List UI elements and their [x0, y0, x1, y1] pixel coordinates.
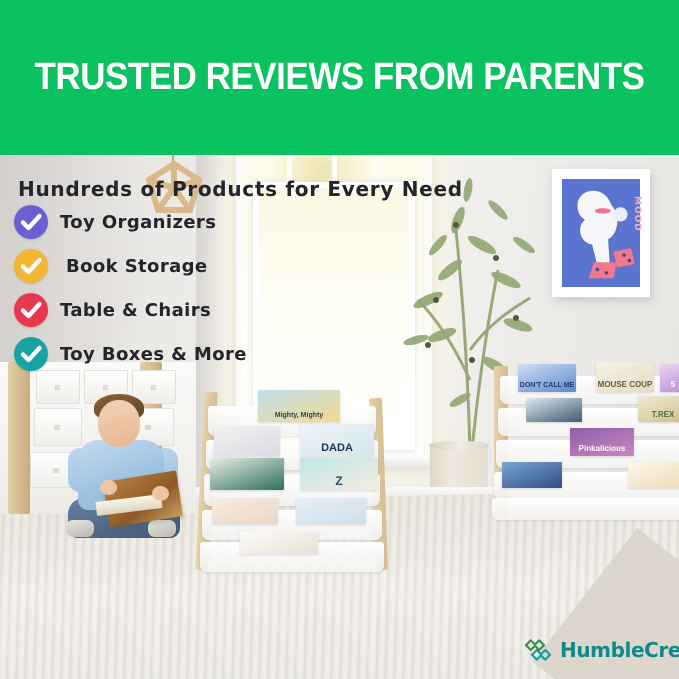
- brand-logo: HumbleCrew: [521, 633, 679, 667]
- brand-name: HumbleCrew: [560, 638, 679, 662]
- banner-title: TRUSTED REVIEWS FROM PARENTS: [35, 56, 645, 99]
- child-face: [98, 400, 140, 447]
- right-bookshelf: DON'T CALL ME MOUSE COUP 5 T.REX Pinkali…: [478, 366, 679, 516]
- wall-art-frame: MOOD: [552, 169, 650, 297]
- check-icon: [14, 249, 48, 283]
- checklist-item-toy-organizers: Toy Organizers: [14, 205, 354, 239]
- checklist-item-toy-boxes: Toy Boxes & More: [14, 337, 354, 371]
- interlocking-links-icon: [521, 633, 555, 667]
- book: DON'T CALL ME: [518, 364, 576, 392]
- book: [212, 498, 278, 524]
- header-banner: TRUSTED REVIEWS FROM PARENTS: [0, 0, 679, 155]
- book: DADA: [300, 424, 374, 456]
- book: [240, 532, 318, 554]
- checklist-item-book-storage: Book Storage: [14, 249, 354, 283]
- book: Z: [300, 458, 378, 490]
- book: 5: [660, 364, 679, 392]
- book: [502, 462, 562, 488]
- book: Pinkalicious: [570, 428, 634, 456]
- book: T.REX: [638, 396, 679, 422]
- book: MOUSE COUP: [596, 362, 654, 392]
- child-shoe: [148, 520, 176, 537]
- book: [526, 398, 582, 422]
- checklist-label: Table & Chairs: [60, 300, 211, 321]
- organizer-post: [8, 362, 30, 514]
- book: [210, 458, 284, 490]
- book: [214, 426, 280, 456]
- poster-text: MOOD: [632, 196, 641, 232]
- checklist-item-table-chairs: Table & Chairs: [14, 293, 354, 327]
- headline: Hundreds of Products for Every Need: [18, 177, 463, 201]
- center-bookshelf: Mighty, Mighty DADA Z: [196, 392, 396, 570]
- promo-image: MOOD Mighty, Mighty DADA Z: [0, 0, 679, 679]
- book: [296, 498, 366, 524]
- child-hand: [152, 486, 169, 501]
- wall-art: [562, 179, 640, 287]
- feature-checklist: Toy Organizers Book Storage Table & Chai…: [14, 205, 354, 381]
- check-icon: [14, 293, 48, 327]
- child-shoe: [66, 520, 94, 537]
- checklist-label: Book Storage: [66, 256, 208, 277]
- check-icon: [14, 205, 48, 239]
- checklist-label: Toy Boxes & More: [60, 344, 247, 365]
- book: [628, 462, 679, 488]
- book: Mighty, Mighty: [258, 390, 340, 422]
- child-hand: [100, 480, 117, 495]
- check-icon: [14, 337, 48, 371]
- checklist-label: Toy Organizers: [60, 212, 216, 233]
- child-reading: [52, 392, 202, 544]
- shelf-sling: [492, 498, 679, 520]
